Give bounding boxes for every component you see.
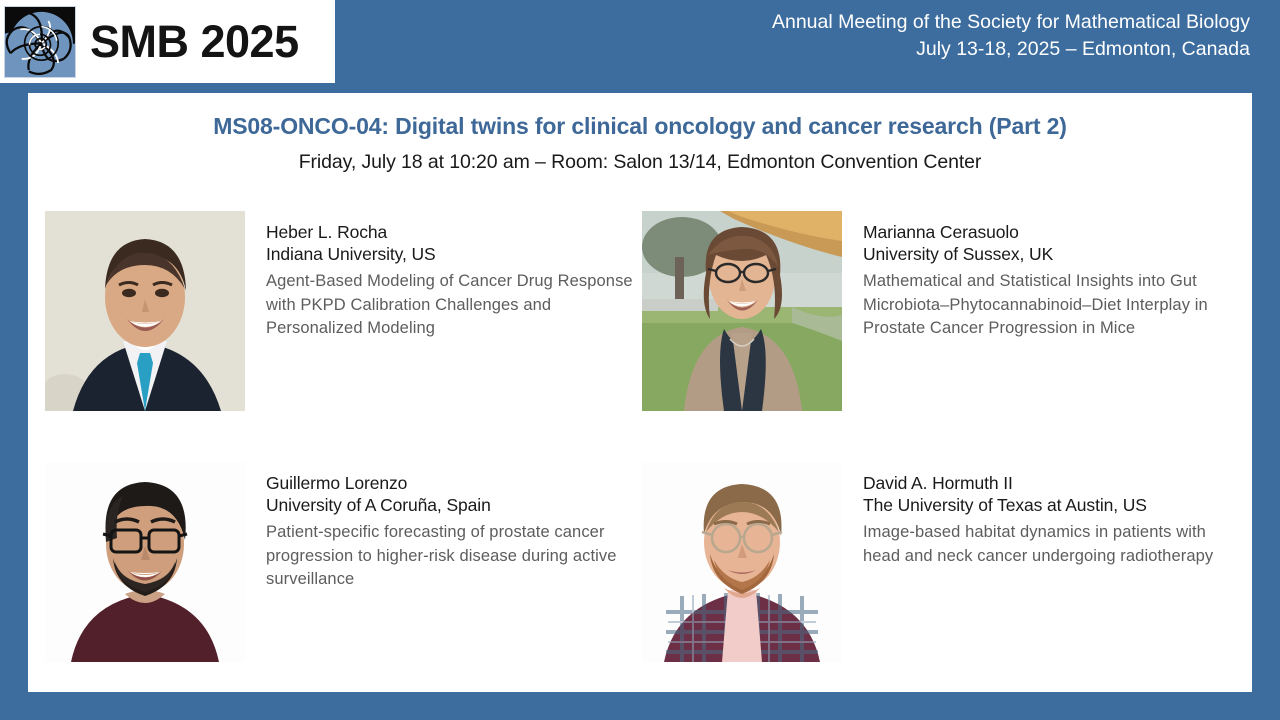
meeting-header: Annual Meeting of the Society for Mathem… xyxy=(772,9,1250,62)
portrait-david-hormuth xyxy=(642,462,842,662)
speaker-name: David A. Hormuth II xyxy=(863,472,1245,494)
speaker-name: Marianna Cerasuolo xyxy=(863,221,1245,243)
talk-title: Mathematical and Statistical Insights in… xyxy=(863,270,1245,340)
speaker-info: Heber L. Rocha Indiana University, US Ag… xyxy=(266,211,638,341)
speaker-card: David A. Hormuth II The University of Te… xyxy=(638,462,1248,662)
session-title: MS08-ONCO-04: Digital twins for clinical… xyxy=(28,113,1252,140)
conference-session-slide: SMB 2025 Annual Meeting of the Society f… xyxy=(0,0,1280,720)
meeting-name: Annual Meeting of the Society for Mathem… xyxy=(772,9,1250,36)
portrait-marianna-cerasuolo xyxy=(642,211,842,411)
speaker-name: Heber L. Rocha xyxy=(266,221,638,243)
meeting-dates-location: July 13-18, 2025 – Edmonton, Canada xyxy=(772,36,1250,63)
talk-title: Agent-Based Modeling of Cancer Drug Resp… xyxy=(266,270,638,340)
nautilus-shell-icon xyxy=(4,6,76,78)
speaker-affiliation: The University of Texas at Austin, US xyxy=(863,494,1245,516)
logo-text: SMB 2025 xyxy=(90,19,299,64)
speaker-info: David A. Hormuth II The University of Te… xyxy=(863,462,1245,568)
speaker-name: Guillermo Lorenzo xyxy=(266,472,638,494)
speaker-card: Heber L. Rocha Indiana University, US Ag… xyxy=(28,211,638,411)
speaker-card: Marianna Cerasuolo University of Sussex,… xyxy=(638,211,1248,411)
speaker-row: Guillermo Lorenzo University of A Coruña… xyxy=(28,462,1252,662)
portrait-guillermo-lorenzo xyxy=(45,462,245,662)
speaker-info: Marianna Cerasuolo University of Sussex,… xyxy=(863,211,1245,341)
portrait-heber-rocha xyxy=(45,211,245,411)
talk-title: Patient-specific forecasting of prostate… xyxy=(266,521,638,591)
speaker-info: Guillermo Lorenzo University of A Coruña… xyxy=(266,462,638,592)
speaker-row: Heber L. Rocha Indiana University, US Ag… xyxy=(28,211,1252,411)
talk-title: Image-based habitat dynamics in patients… xyxy=(863,521,1245,568)
header-bar: SMB 2025 Annual Meeting of the Society f… xyxy=(0,0,1280,83)
logo-band: SMB 2025 xyxy=(0,0,335,83)
session-time-room: Friday, July 18 at 10:20 am – Room: Salo… xyxy=(28,151,1252,174)
content-panel: MS08-ONCO-04: Digital twins for clinical… xyxy=(28,93,1252,692)
speaker-affiliation: University of A Coruña, Spain xyxy=(266,494,638,516)
speaker-affiliation: Indiana University, US xyxy=(266,243,638,265)
speaker-affiliation: University of Sussex, UK xyxy=(863,243,1245,265)
speaker-card: Guillermo Lorenzo University of A Coruña… xyxy=(28,462,638,662)
speaker-grid: Heber L. Rocha Indiana University, US Ag… xyxy=(28,211,1252,662)
